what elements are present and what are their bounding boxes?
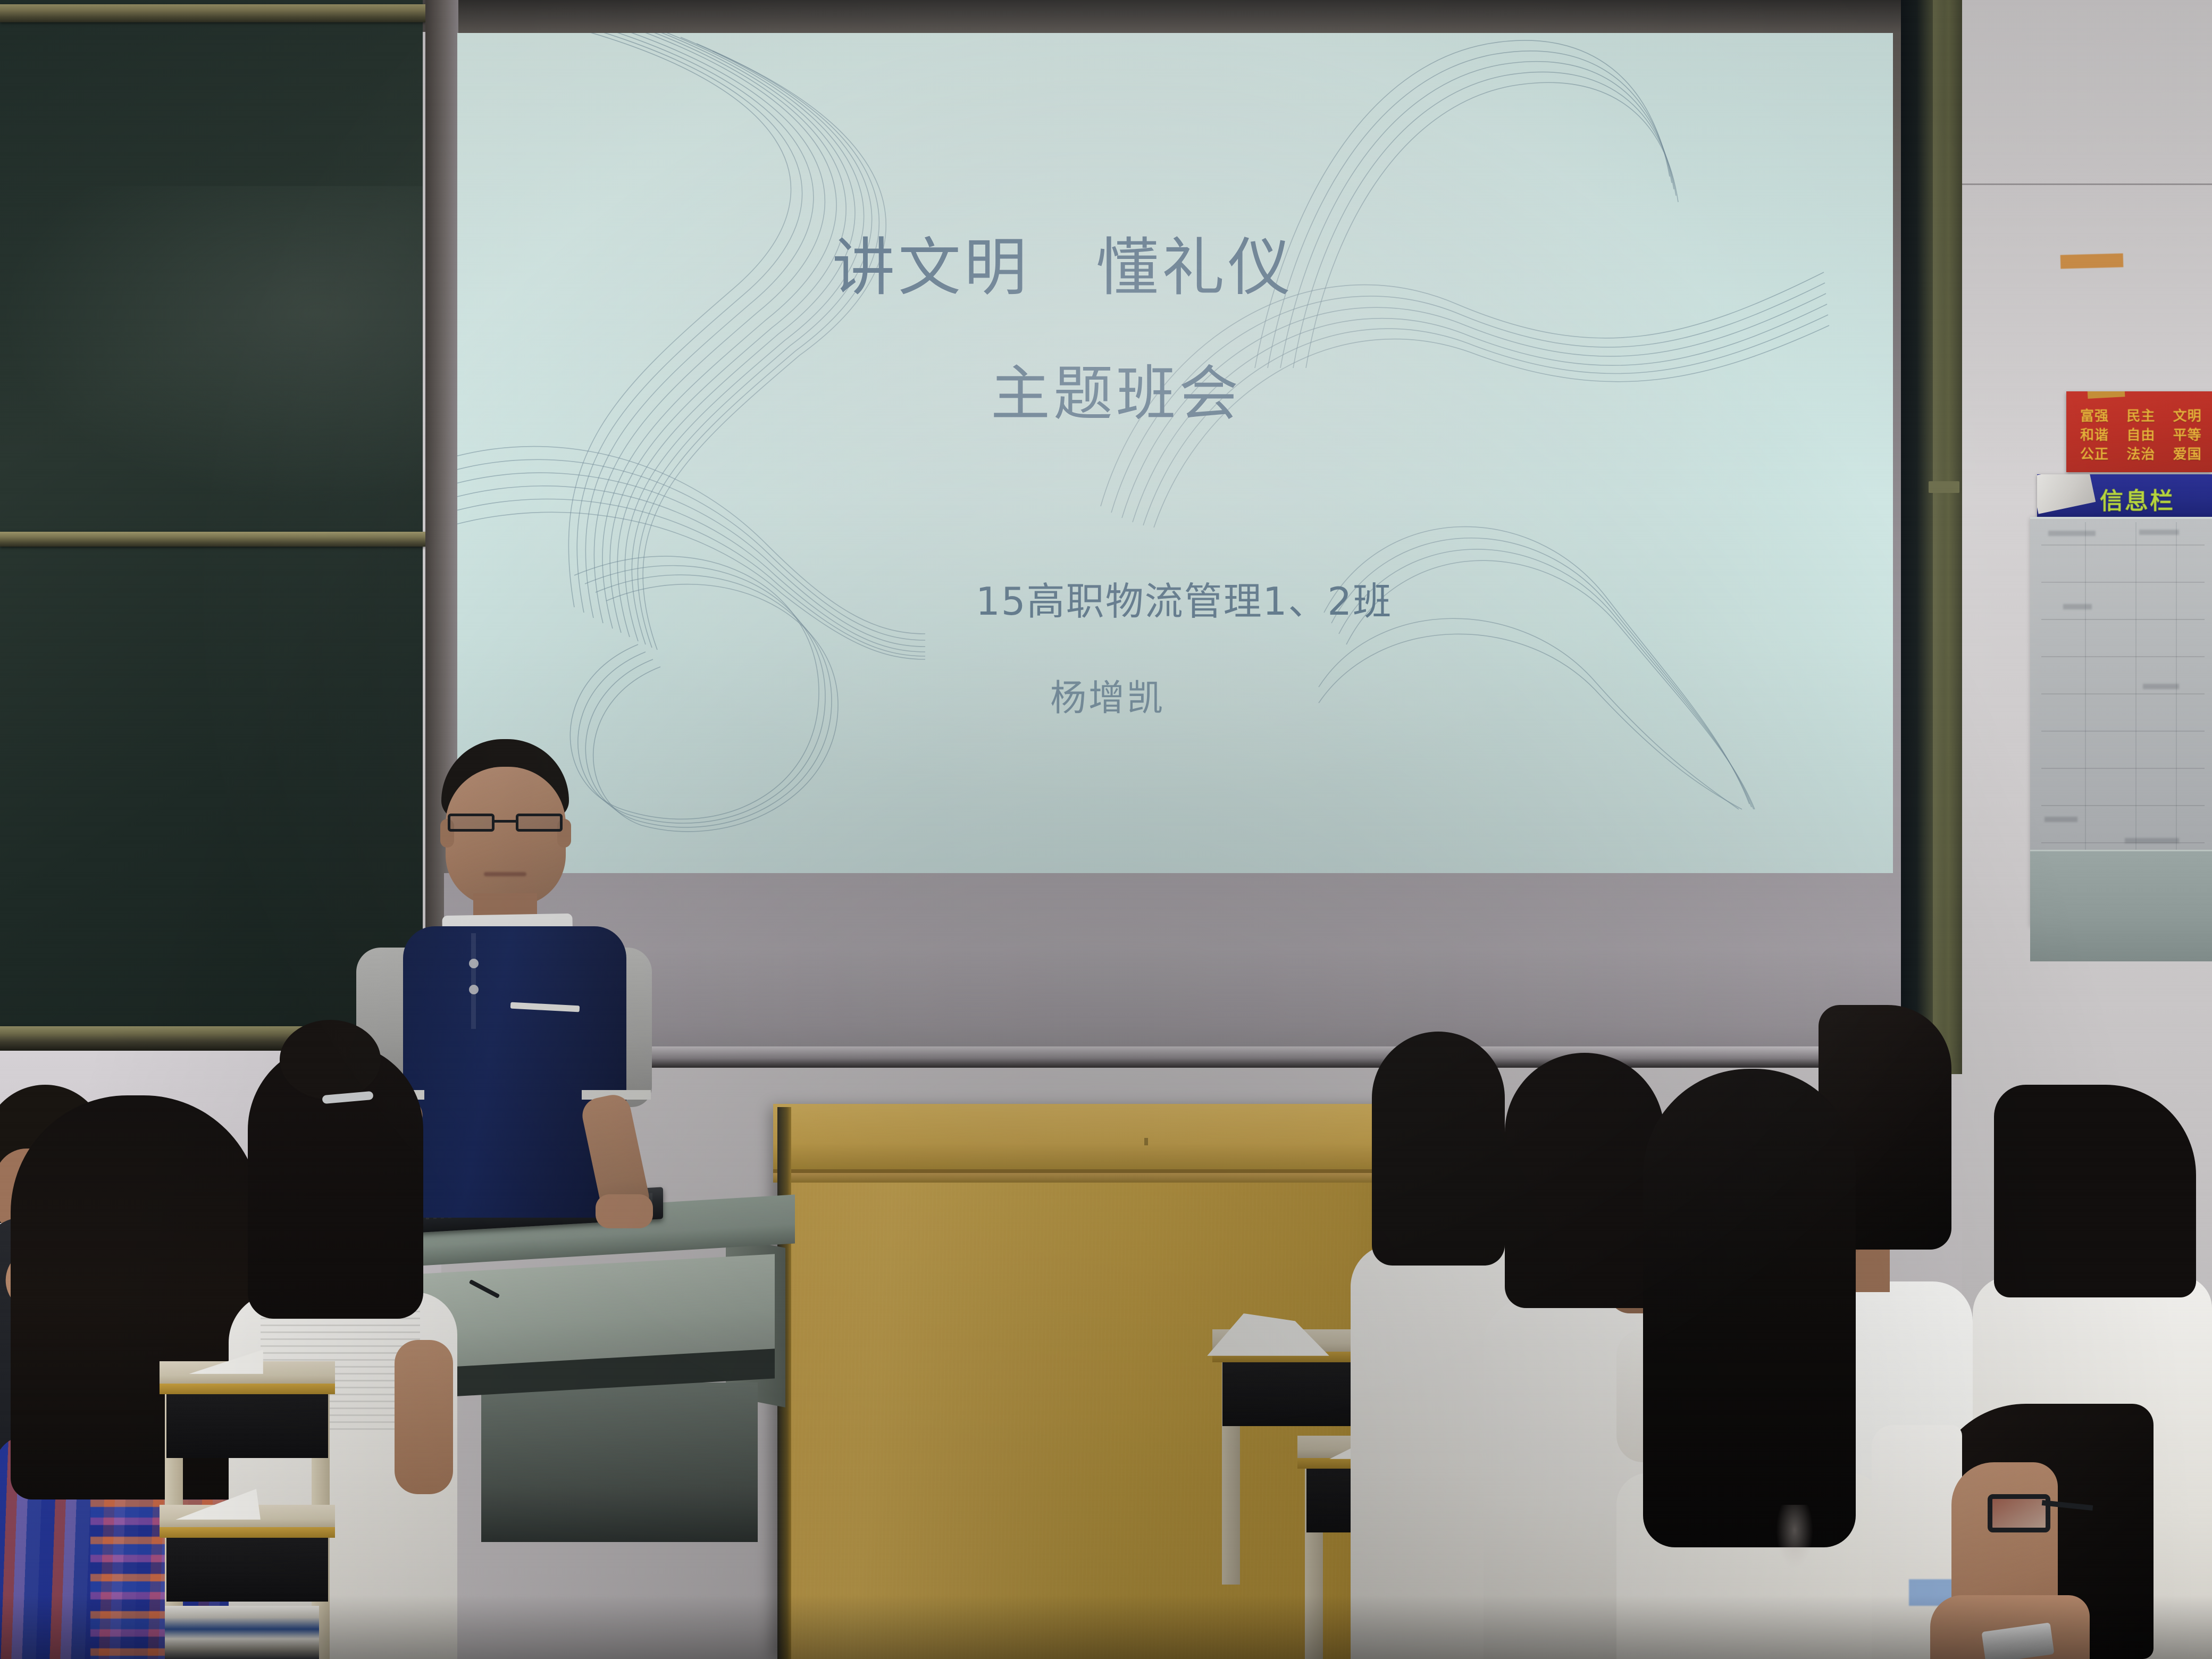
poster-cell: 民主	[2126, 408, 2163, 424]
presenter-head	[446, 767, 566, 906]
stacked-books	[165, 1606, 319, 1659]
chalkboard-glare	[0, 186, 423, 505]
wall-seam	[1962, 183, 2212, 185]
banner-peeled-corner	[2037, 474, 2096, 514]
chalkboard-rail-top	[0, 4, 425, 22]
cabinet-lid-lip	[773, 1173, 1418, 1183]
wall-tape-mark	[2060, 253, 2124, 269]
presenter-mouth	[484, 872, 526, 876]
banner-label: 信息栏	[2100, 482, 2175, 516]
presenter-eyeglasses	[446, 814, 567, 832]
podium-understructure	[481, 1382, 758, 1542]
ribbon-decoration-lower-left	[457, 384, 925, 660]
student-hair	[1994, 1085, 2196, 1297]
wall-lower-panel	[2030, 850, 2212, 961]
screen-right-frame	[1901, 0, 1965, 1074]
desk-edge-trim	[160, 1527, 335, 1538]
ribbon-decoration-upper-right	[1191, 33, 1680, 373]
poster-cell: 文明	[2173, 408, 2210, 424]
slide-title: 讲文明 懂礼仪	[832, 216, 1294, 307]
cabinet-lid	[773, 1104, 1418, 1173]
desk-edge-trim	[160, 1384, 335, 1394]
blue-information-banner: 信息栏	[2037, 474, 2212, 519]
student-arm	[395, 1340, 453, 1494]
screen-top-shadow	[425, 0, 1909, 33]
red-wall-poster: 富强 民主 文明 和谐 自由 平等 公正 法治 爱国	[2066, 391, 2212, 472]
student-hair-bun	[280, 1020, 381, 1100]
poster-cell: 爱国	[2173, 447, 2210, 463]
student-front-right-glasses	[1930, 1404, 2212, 1659]
chalkboard-rail-middle	[0, 532, 425, 547]
student-eyeglasses	[1988, 1494, 2050, 1532]
polo-button-bottom	[469, 985, 479, 994]
lens-right	[516, 814, 563, 832]
student-long-hair	[1643, 1069, 1856, 1547]
screen-mount-bracket	[1929, 481, 1959, 493]
poster-cell: 法治	[2126, 447, 2163, 463]
poster-text-grid: 富强 民主 文明 和谐 自由 平等 公正 法治 爱国	[2080, 408, 2210, 463]
polo-button-top	[469, 959, 479, 968]
hair-highlight	[1776, 1505, 1813, 1569]
glasses-bridge	[495, 820, 516, 823]
slide-class-line: 15高职物流管理1、2班	[976, 570, 1392, 626]
classroom-photo: 讲文明 懂礼仪 主题班会 15高职物流管理1、2班 杨增凯 富强 民主 文明 和…	[0, 0, 2212, 1659]
poster-cell: 和谐	[2080, 428, 2117, 443]
poster-cell: 富强	[2080, 408, 2117, 424]
student-right-3	[1616, 1069, 1882, 1659]
desk-storage-compartment	[166, 1394, 328, 1458]
poster-tape	[2088, 391, 2125, 399]
poster-cell: 平等	[2173, 428, 2210, 443]
slide-subtitle: 主题班会	[991, 346, 1242, 432]
polo-placket	[471, 933, 476, 1029]
presenter-hand-right	[596, 1194, 653, 1228]
slide-author: 杨增凯	[1050, 668, 1165, 721]
poster-cell: 公正	[2080, 447, 2117, 463]
frame-highlight	[1933, 0, 1945, 1074]
lens-left	[448, 814, 495, 832]
poster-cell: 自由	[2126, 428, 2163, 443]
desk-storage-compartment	[166, 1538, 328, 1602]
ribbon-decoration-upper-left	[457, 33, 1000, 650]
